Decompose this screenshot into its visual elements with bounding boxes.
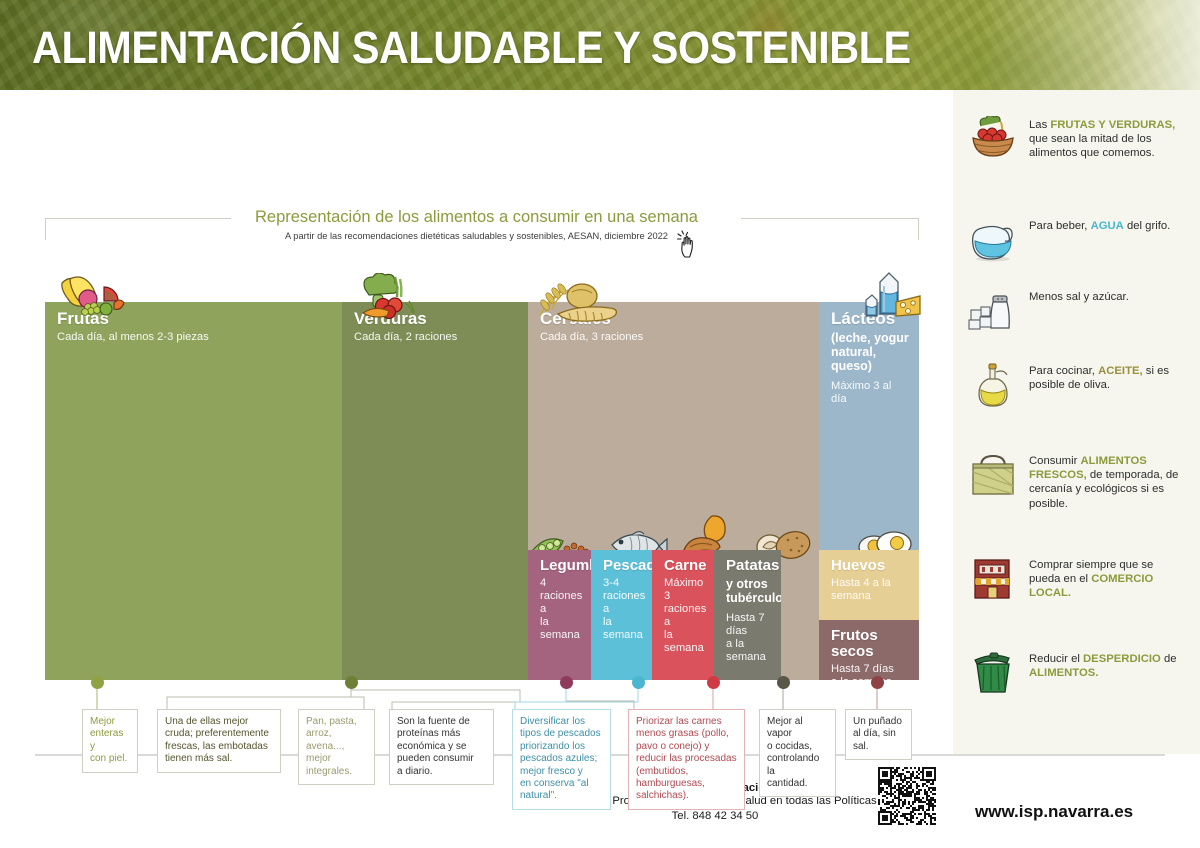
food-block-huevos[interactable]: HuevosHasta 4 a la semana	[819, 550, 919, 620]
tip-text: Menos sal y azúcar.	[1029, 288, 1179, 304]
connector-dot	[345, 676, 358, 689]
connector-dot	[632, 676, 645, 689]
callout-patatas: Mejor al vapor o cocidas, controlando la…	[759, 709, 836, 797]
block-quantity: 4 raciones a la semana	[540, 577, 581, 642]
shopping-bag-icon	[967, 452, 1019, 498]
food-block-frutossecos[interactable]: Frutos secosHasta 7 días a la semana	[819, 620, 919, 680]
block-title: Frutos secos	[831, 628, 909, 660]
header-fade-overlay	[980, 0, 1200, 90]
tip-fruits-vegetables: Las FRUTAS Y VERDURAS, que sean la mitad…	[967, 116, 1179, 162]
tip-text: Las FRUTAS Y VERDURAS, que sean la mitad…	[1029, 116, 1179, 161]
block-title: Patatas	[726, 558, 771, 574]
block-quantity: Hasta 7 días a la semana	[831, 663, 909, 680]
tip-water: Para beber, AGUA del grifo.	[967, 217, 1179, 263]
block-title: Legumbres	[540, 558, 581, 574]
food-block-legumbres[interactable]: Legumbres4 raciones a la semana	[528, 550, 591, 680]
food-block-carne[interactable]: CarneMáximo 3 raciones a la semana	[652, 550, 714, 680]
page-title: ALIMENTACIÓN SALUDABLE Y SOSTENIBLE	[32, 22, 911, 74]
block-title: Pescado	[603, 558, 642, 574]
connector-dot	[871, 676, 884, 689]
callout-verduras: Una de ellas mejor cruda; preferentement…	[157, 709, 281, 773]
connector-dot	[91, 676, 104, 689]
food-block-patatas[interactable]: Patatasy otros tubérculosHasta 7 días a …	[714, 550, 781, 680]
food-block-pescado[interactable]: Pescado3-4 raciones a la semana	[591, 550, 652, 680]
connector-lines	[0, 90, 953, 754]
tip-oil: Para cocinar, ACEITE, si es posible de o…	[967, 362, 1179, 408]
connector-dot	[707, 676, 720, 689]
water-jug-icon	[967, 217, 1019, 263]
callout-cereales: Pan, pasta, arroz, avena..., mejor integ…	[298, 709, 375, 785]
tips-sidebar: Las FRUTAS Y VERDURAS, que sean la mitad…	[953, 90, 1200, 754]
block-quantity: Hasta 7 días a la semana	[726, 612, 771, 664]
tip-food-waste: Reducir el DESPERDICIO de ALIMENTOS.	[967, 650, 1179, 696]
phone-number: Tel. 848 42 34 50	[525, 809, 905, 824]
fruit-veg-basket-icon	[967, 116, 1019, 162]
infographic-page: ALIMENTACIÓN SALUDABLE Y SOSTENIBLE Repr…	[0, 0, 1200, 848]
callout-frutas: Mejor enteras y con piel.	[82, 709, 138, 773]
callout-frutossecos: Un puñado al día, sin sal.	[845, 709, 912, 760]
tip-text: Consumir ALIMENTOS FRESCOS, de temporada…	[1029, 452, 1179, 511]
tip-fresh-food: Consumir ALIMENTOS FRESCOS, de temporada…	[967, 452, 1179, 511]
block-title: Huevos	[831, 558, 909, 574]
tip-salt-sugar: Menos sal y azúcar.	[967, 288, 1179, 334]
trash-bin-icon	[967, 650, 1019, 696]
page-header: ALIMENTACIÓN SALUDABLE Y SOSTENIBLE	[0, 0, 1200, 90]
callout-legumbres: Son la fuente de proteínas más económica…	[389, 709, 494, 785]
callout-pescado: Diversificar los tipos de pescados prior…	[512, 709, 611, 810]
block-subtitle: y otros tubérculos	[726, 577, 771, 605]
vegetables-icon	[357, 273, 417, 319]
salt-sugar-icon	[967, 288, 1019, 334]
milk-cheese-icon	[862, 270, 924, 322]
website-url[interactable]: www.isp.navarra.es	[975, 802, 1133, 822]
connector-dot	[777, 676, 790, 689]
local-shop-icon	[967, 556, 1019, 602]
block-quantity: Hasta 4 a la semana	[831, 577, 909, 603]
tip-text: Para beber, AGUA del grifo.	[1029, 217, 1179, 233]
block-quantity: Máximo 3 raciones a la semana	[664, 577, 704, 655]
fruit-basket-icon	[58, 273, 126, 319]
connector-dot	[560, 676, 573, 689]
tip-local-shop: Comprar siempre que se pueda en el COMER…	[967, 556, 1179, 602]
block-quantity: 3-4 raciones a la semana	[603, 577, 642, 642]
qr-code-icon[interactable]	[878, 767, 936, 825]
tip-text: Reducir el DESPERDICIO de ALIMENTOS.	[1029, 650, 1179, 680]
callout-carne: Priorizar las carnes menos grasas (pollo…	[628, 709, 745, 810]
tip-text: Para cocinar, ACEITE, si es posible de o…	[1029, 362, 1179, 392]
block-title: Carne	[664, 558, 704, 574]
main-chart-area: Representación de los alimentos a consum…	[0, 90, 953, 754]
olive-oil-icon	[967, 362, 1019, 408]
bread-wheat-icon	[536, 282, 618, 324]
tip-text: Comprar siempre que se pueda en el COMER…	[1029, 556, 1179, 601]
